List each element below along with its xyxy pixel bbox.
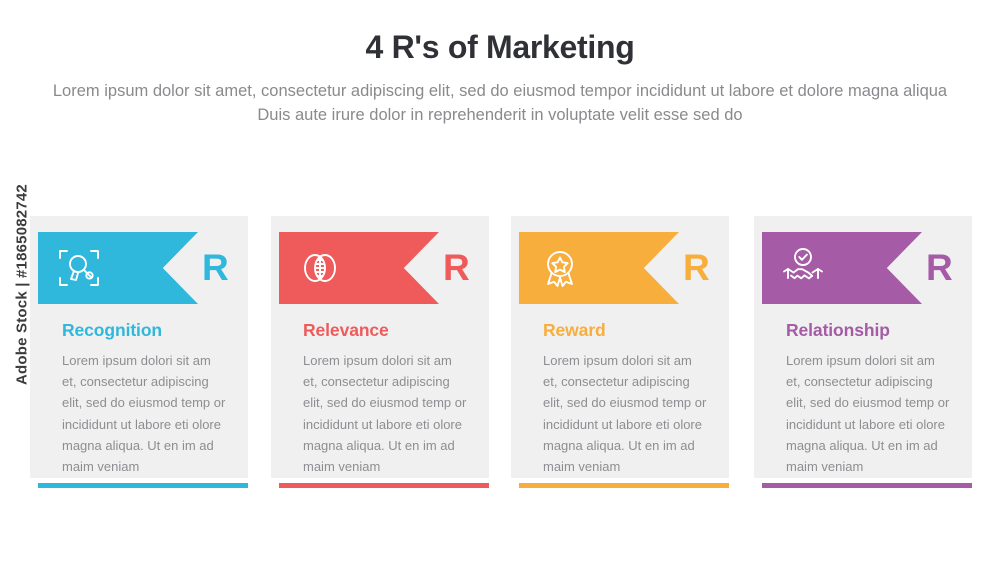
cards-container: R Recognition Lorem ipsum dolori sit am … — [0, 216, 1000, 496]
card-letter: R — [202, 232, 242, 304]
ribbon-band — [762, 232, 922, 304]
search-focus-icon — [54, 243, 104, 293]
card-reward[interactable]: R Reward Lorem ipsum dolori sit am et, c… — [511, 216, 729, 488]
infographic-stage: 4 R's of Marketing Lorem ipsum dolor sit… — [0, 0, 1000, 563]
page-subtitle: Lorem ipsum dolor sit amet, consectetur … — [50, 66, 950, 127]
card-title: Reward — [543, 320, 606, 341]
card-letter: R — [926, 232, 966, 304]
card-description: Lorem ipsum dolori sit am et, consectetu… — [786, 350, 952, 477]
card-underline — [762, 483, 972, 488]
handshake-check-icon — [778, 243, 828, 293]
page-title: 4 R's of Marketing — [0, 0, 1000, 66]
award-medal-icon — [535, 243, 585, 293]
card-relevance[interactable]: R Relevance Lorem ipsum dolori sit am et… — [271, 216, 489, 488]
ribbon-band — [279, 232, 439, 304]
card-title: Recognition — [62, 320, 162, 341]
card-recognition[interactable]: R Recognition Lorem ipsum dolori sit am … — [30, 216, 248, 488]
card-description: Lorem ipsum dolori sit am et, consectetu… — [303, 350, 469, 477]
card-description: Lorem ipsum dolori sit am et, consectetu… — [543, 350, 709, 477]
card-ribbon: R — [754, 232, 972, 304]
venn-diagram-icon — [295, 243, 345, 293]
card-description: Lorem ipsum dolori sit am et, consectetu… — [62, 350, 228, 477]
card-underline — [279, 483, 489, 488]
ribbon-band — [38, 232, 198, 304]
card-letter: R — [683, 232, 723, 304]
card-ribbon: R — [271, 232, 489, 304]
ribbon-band — [519, 232, 679, 304]
card-ribbon: R — [30, 232, 248, 304]
card-letter: R — [443, 232, 483, 304]
card-ribbon: R — [511, 232, 729, 304]
card-title: Relationship — [786, 320, 890, 341]
card-title: Relevance — [303, 320, 389, 341]
card-underline — [38, 483, 248, 488]
card-relationship[interactable]: R Relationship Lorem ipsum dolori sit am… — [754, 216, 972, 488]
header: 4 R's of Marketing Lorem ipsum dolor sit… — [0, 0, 1000, 128]
card-underline — [519, 483, 729, 488]
